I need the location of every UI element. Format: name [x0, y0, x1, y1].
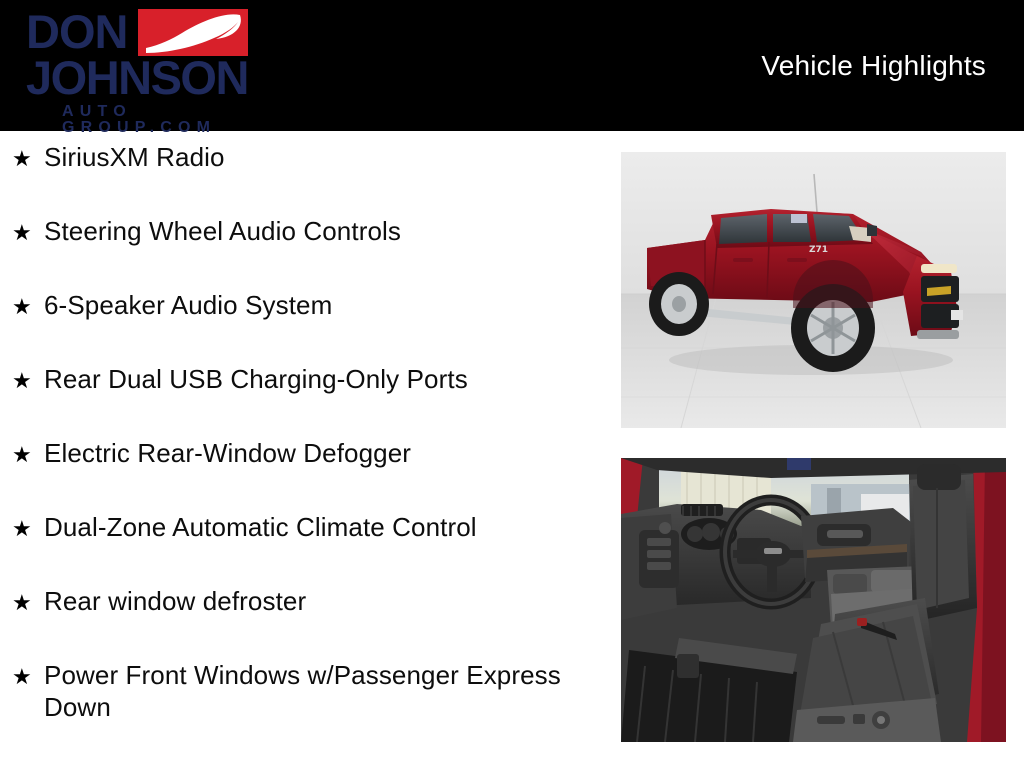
list-item: ★ Power Front Windows w/Passenger Expres… — [0, 649, 600, 723]
list-item-label: SiriusXM Radio — [44, 131, 600, 173]
logo-accent-block — [138, 9, 248, 56]
vehicle-highlights-list: ★ SiriusXM Radio ★ Steering Wheel Audio … — [0, 131, 600, 768]
star-bullet-icon: ★ — [12, 370, 32, 392]
list-item: ★ Dual-Zone Automatic Climate Control — [0, 501, 600, 575]
header-bar: DON JOHNSON AUTO GROUP.COM Vehicle Highl… — [0, 0, 1024, 131]
list-item-label: Dual-Zone Automatic Climate Control — [44, 501, 600, 543]
list-item: ★ Steering Wheel Audio Controls — [0, 205, 600, 279]
star-bullet-icon: ★ — [12, 592, 32, 614]
list-item-label: Rear Dual USB Charging-Only Ports — [44, 353, 600, 395]
list-item-label: Steering Wheel Audio Controls — [44, 205, 600, 247]
brand-logo[interactable]: DON JOHNSON AUTO GROUP.COM — [26, 6, 258, 126]
logo-line-johnson: JOHNSON — [26, 54, 248, 101]
interior-photo-graphic — [621, 458, 1006, 742]
star-bullet-icon: ★ — [12, 444, 32, 466]
svg-text:Z71: Z71 — [809, 245, 828, 255]
list-item: ★ Electric Rear-Window Defogger — [0, 427, 600, 501]
list-item-label: Power Front Windows w/Passenger Express … — [44, 649, 600, 723]
star-bullet-icon: ★ — [12, 518, 32, 540]
list-item: ★ SiriusXM Radio — [0, 131, 600, 205]
list-item-label: 6-Speaker Audio System — [44, 279, 600, 321]
vehicle-exterior-photo[interactable]: Z71 — [621, 152, 1006, 428]
list-item: ★ 6-Speaker Audio System — [0, 279, 600, 353]
list-item: ★ Rear Dual USB Charging-Only Ports — [0, 353, 600, 427]
vehicle-interior-photo[interactable] — [621, 458, 1006, 742]
list-item-label: Rear window defroster — [44, 575, 600, 617]
exterior-photo-graphic: Z71 — [621, 152, 1006, 428]
logo-line-don: DON — [26, 8, 127, 55]
list-item: ★ Rear window defroster — [0, 575, 600, 649]
star-bullet-icon: ★ — [12, 222, 32, 244]
star-bullet-icon: ★ — [12, 296, 32, 318]
page-title: Vehicle Highlights — [761, 50, 986, 82]
list-item-label: Electric Rear-Window Defogger — [44, 427, 600, 469]
star-bullet-icon: ★ — [12, 148, 32, 170]
swoosh-icon — [138, 9, 248, 56]
star-bullet-icon: ★ — [12, 666, 32, 688]
